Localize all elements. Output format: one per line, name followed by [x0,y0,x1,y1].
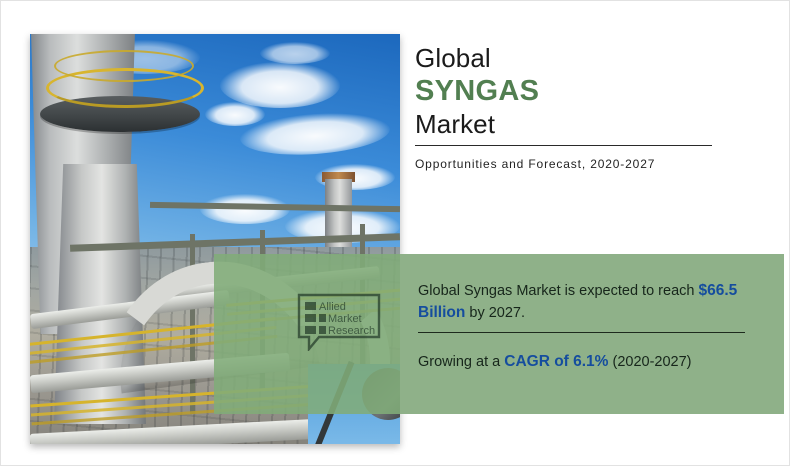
stats-panel-divider [418,332,745,333]
logo-line-1: Allied [319,301,346,313]
stat-statement-cagr: Growing at a CAGR of 6.1% (2020-2027) [418,351,692,373]
stat-1-suffix: by 2027. [465,305,525,321]
logo-line-2: Market [328,313,362,325]
platform-railing-upper [54,50,194,82]
market-report-banner: Allied Market Research Global Syngas Mar… [0,0,790,466]
stat-1-prefix: Global Syngas Market is expected to reac… [418,283,698,299]
stat-2-suffix: (2020-2027) [608,354,691,370]
allied-market-research-logo: Allied Market Research [297,293,381,351]
stats-panel-text: Global Syngas Market is expected to reac… [418,254,770,414]
cloud-icon [260,42,330,64]
title-line-syngas: SYNGAS [415,74,745,108]
cloud-icon [205,102,265,126]
logo-line-3: Research [328,325,375,337]
stat-2-value: CAGR of 6.1% [504,353,608,370]
title-divider [415,145,712,146]
title-block: Global SYNGAS Market Opportunities and F… [415,43,745,140]
title-subtitle: Opportunities and Forecast, 2020-2027 [415,157,655,171]
title-line-market: Market [415,108,745,140]
title-line-global: Global [415,43,745,74]
stat-2-prefix: Growing at a [418,354,504,370]
stat-statement-market-size: Global Syngas Market is expected to reac… [418,280,770,324]
